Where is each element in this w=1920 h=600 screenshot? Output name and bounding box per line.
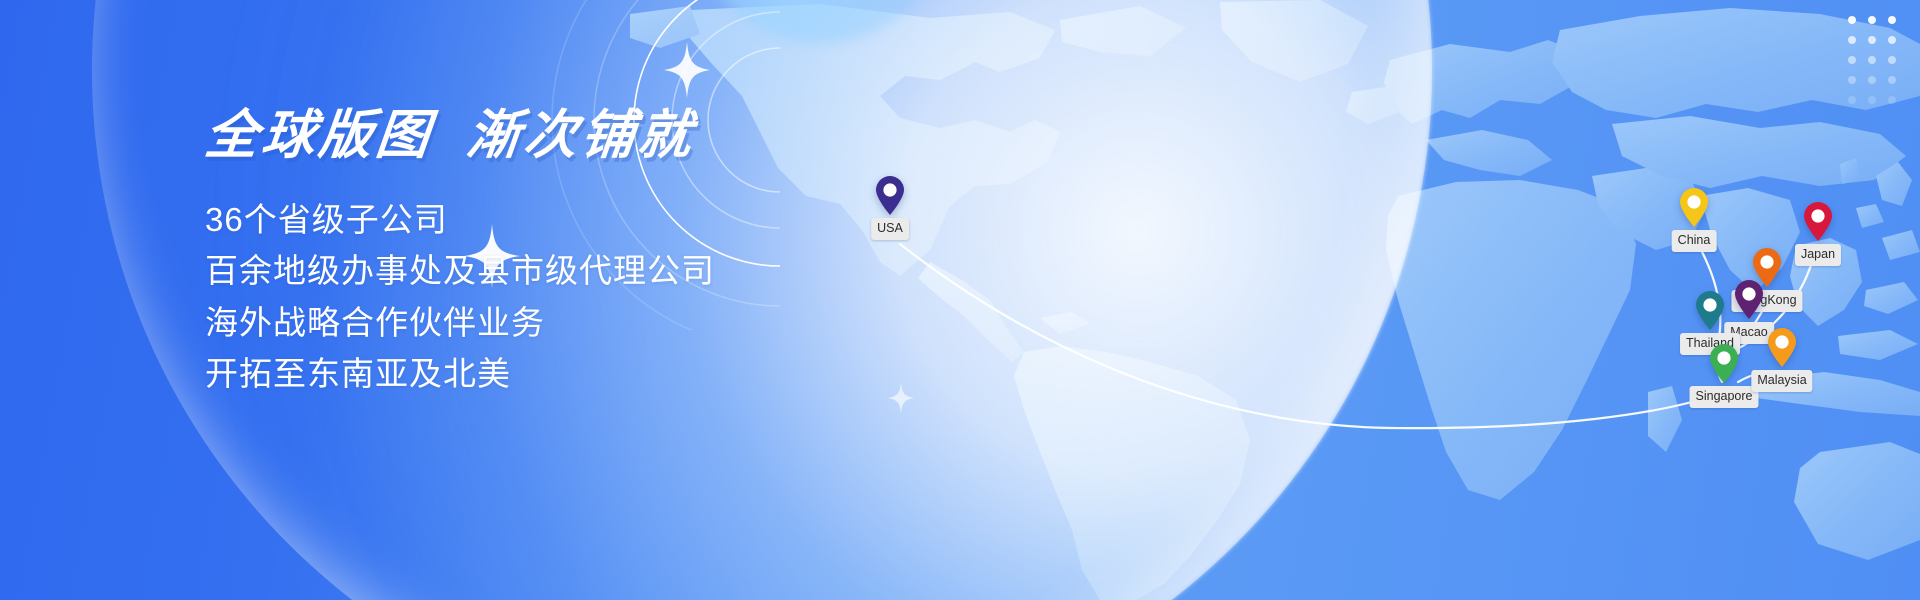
location-pin-icon: [1709, 344, 1739, 384]
map-pin-malaysia[interactable]: Malaysia: [1767, 328, 1797, 368]
location-pin-icon: [1767, 328, 1797, 368]
feature-line: 36个省级子公司: [205, 194, 965, 245]
location-pin-icon: [1695, 291, 1725, 331]
location-pin-icon: [1679, 188, 1709, 228]
copy-block: 全球版图渐次铺就 36个省级子公司 百余地级办事处及县市级代理公司 海外战略合作…: [205, 108, 965, 400]
map-pin-label: USA: [871, 218, 909, 240]
location-pin-icon: [875, 176, 905, 216]
global-map-banner: 全球版图渐次铺就 36个省级子公司 百余地级办事处及县市级代理公司 海外战略合作…: [0, 0, 1920, 600]
headline-part-1: 全球版图: [202, 106, 436, 165]
map-pin-label: Malaysia: [1751, 370, 1812, 392]
feature-line: 开拓至东南亚及北美: [205, 348, 965, 399]
headline-part-2: 渐次铺就: [464, 106, 698, 165]
feature-line: 海外战略合作伙伴业务: [205, 297, 965, 348]
map-pin-usa[interactable]: USA: [875, 176, 905, 216]
location-pin-icon: [1803, 202, 1833, 242]
map-pin-macao[interactable]: Macao: [1734, 280, 1764, 320]
location-pin-icon: [1734, 280, 1764, 320]
map-pin-china[interactable]: China: [1679, 188, 1709, 228]
page-title: 全球版图渐次铺就: [202, 108, 968, 164]
map-pin-singapore[interactable]: Singapore: [1709, 344, 1739, 384]
map-pin-thailand[interactable]: Thailand: [1695, 291, 1725, 331]
map-pin-japan[interactable]: Japan: [1803, 202, 1833, 242]
map-pin-label: Singapore: [1690, 386, 1759, 408]
feature-lines: 36个省级子公司 百余地级办事处及县市级代理公司 海外战略合作伙伴业务 开拓至东…: [205, 194, 965, 400]
map-pin-label: China: [1672, 230, 1717, 252]
feature-line: 百余地级办事处及县市级代理公司: [205, 245, 965, 296]
map-pin-label: Japan: [1795, 244, 1841, 266]
